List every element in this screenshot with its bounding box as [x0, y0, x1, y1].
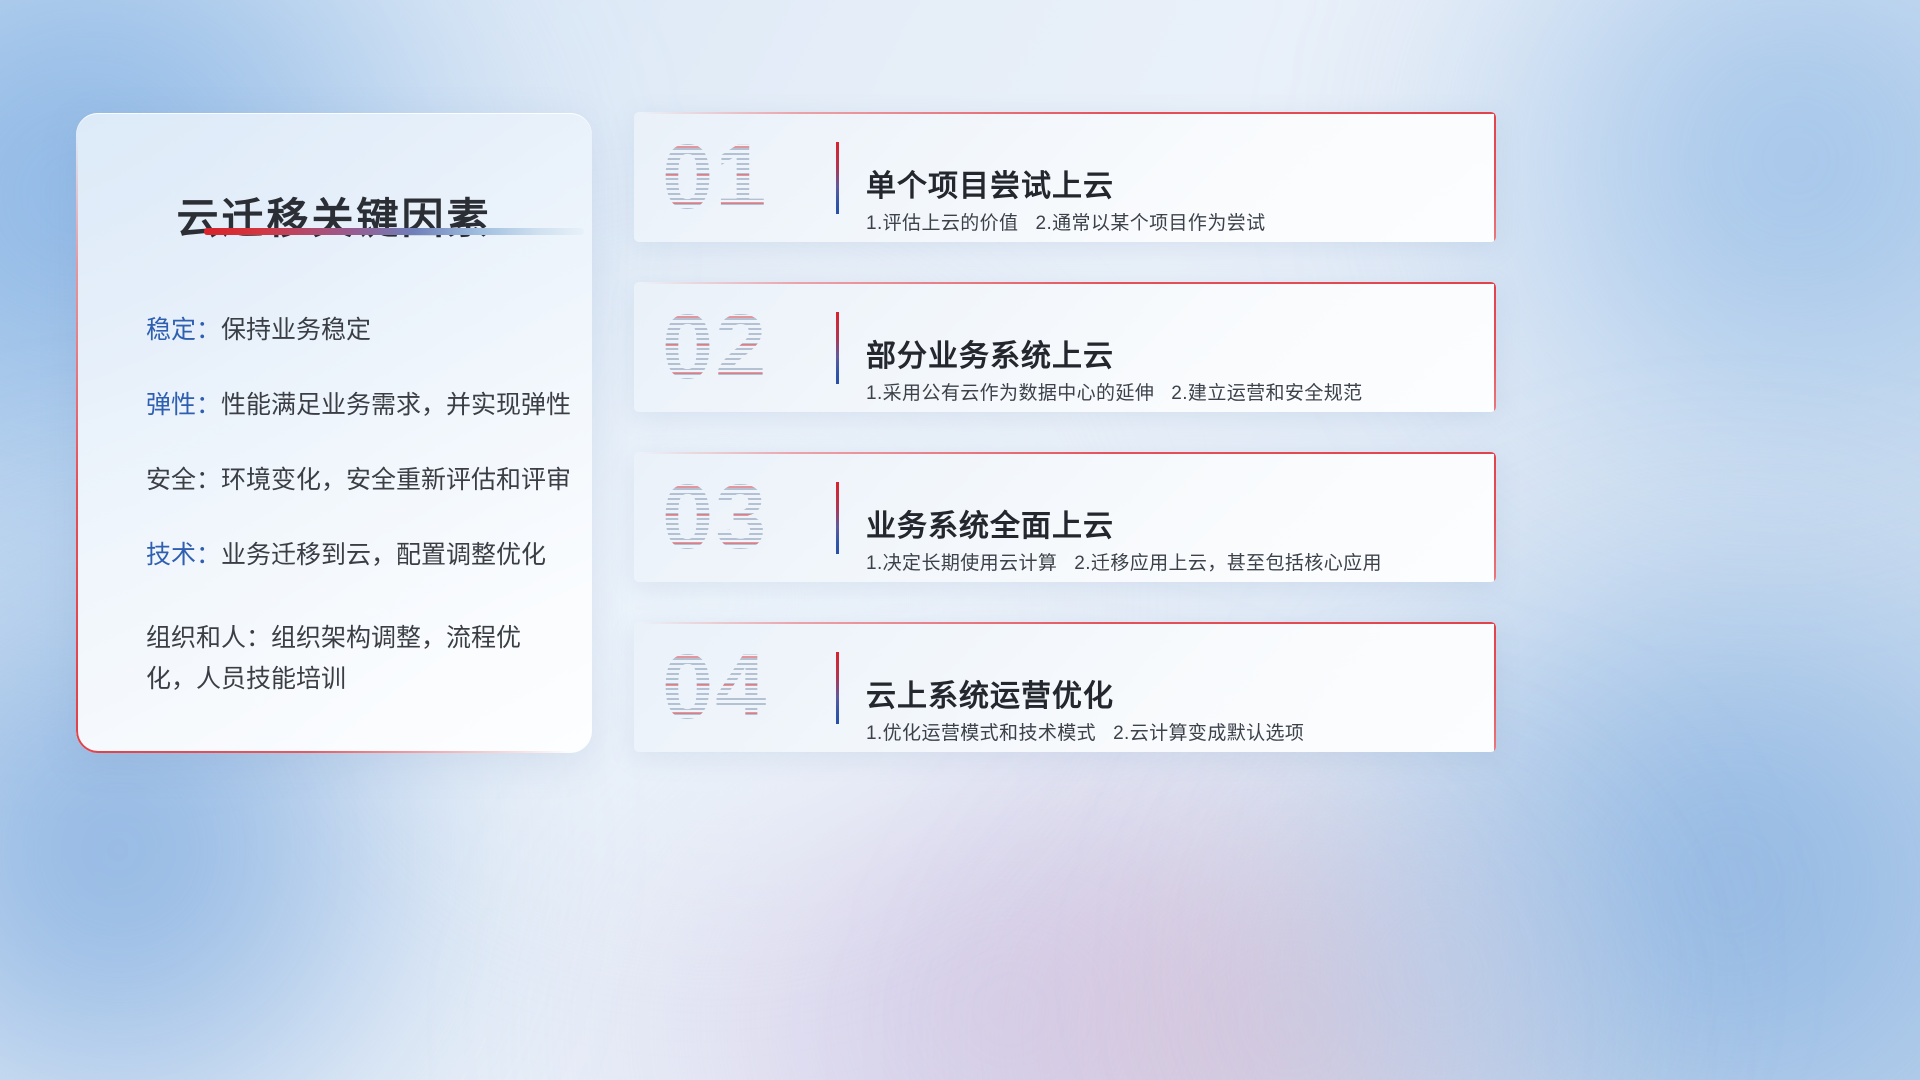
factor-text-technology: 业务迁移到云，配置调整优化 [221, 541, 546, 569]
step-card-01[interactable]: 01 01 单个项目尝试上云 1.评估上云的价值 2.通常以某个项目作为尝试 [634, 112, 1496, 242]
factor-label-security: 安全： [146, 466, 221, 494]
migration-steps-list: 01 01 单个项目尝试上云 1.评估上云的价值 2.通常以某个项目作为尝试 0… [634, 112, 1496, 752]
step-title-02: 部分业务系统上云 [866, 331, 1114, 375]
card-accent-bar [836, 482, 839, 554]
factor-text-security: 环境变化，安全重新评估和评审 [221, 466, 571, 494]
step-number-01: 01 [662, 118, 830, 236]
title-underline-gradient [204, 228, 584, 235]
step-title-03: 业务系统全面上云 [866, 501, 1114, 545]
step-title-04: 云上系统运营优化 [866, 671, 1114, 715]
step-number-03: 03 [662, 458, 830, 576]
card-accent-bar [836, 142, 839, 214]
step-subtitle-04: 1.优化运营模式和技术模式 2.云计算变成默认选项 [866, 718, 1304, 745]
factor-list: 稳定：保持业务稳定 弹性：性能满足业务需求，并实现弹性 安全：环境变化，安全重新… [146, 318, 558, 699]
step-card-02[interactable]: 02 02 部分业务系统上云 1.采用公有云作为数据中心的延伸 2.建立运营和安… [634, 282, 1496, 412]
factor-text-elasticity: 性能满足业务需求，并实现弹性 [221, 391, 571, 419]
key-factors-panel: 云迁移关键因素 稳定：保持业务稳定 弹性：性能满足业务需求，并实现弹性 安全：环… [76, 113, 592, 753]
factor-row-organization-people: 组织和人：组织架构调整，流程优化，人员技能培训 [146, 618, 558, 699]
factor-text-stability: 保持业务稳定 [221, 316, 371, 344]
panel-bottom-accent-border [92, 751, 572, 753]
card-right-accent-border [1494, 282, 1496, 412]
step-subtitle-02: 1.采用公有云作为数据中心的延伸 2.建立运营和安全规范 [866, 378, 1363, 405]
step-title-01: 单个项目尝试上云 [866, 161, 1114, 205]
card-accent-bar [836, 312, 839, 384]
card-top-accent-border [642, 452, 1496, 454]
factor-row-technology: 技术：业务迁移到云，配置调整优化 [146, 543, 558, 568]
step-card-03[interactable]: 03 03 业务系统全面上云 1.决定长期使用云计算 2.迁移应用上云，甚至包括… [634, 452, 1496, 582]
factor-label-stability: 稳定： [146, 316, 221, 344]
step-number-02: 02 [662, 288, 830, 406]
page-title: 云迁移关键因素 [76, 185, 592, 246]
factor-row-security: 安全：环境变化，安全重新评估和评审 [146, 468, 558, 493]
factor-label-organization-people: 组织和人： [146, 624, 271, 652]
card-right-accent-border [1494, 622, 1496, 752]
factor-row-stability: 稳定：保持业务稳定 [146, 318, 558, 343]
step-subtitle-01: 1.评估上云的价值 2.通常以某个项目作为尝试 [866, 208, 1266, 235]
factor-label-technology: 技术： [146, 541, 221, 569]
card-top-accent-border [642, 282, 1496, 284]
card-right-accent-border [1494, 112, 1496, 242]
step-card-04[interactable]: 04 04 云上系统运营优化 1.优化运营模式和技术模式 2.云计算变成默认选项 [634, 622, 1496, 752]
step-number-04: 04 [662, 628, 830, 746]
card-top-accent-border [642, 112, 1496, 114]
factor-row-elasticity: 弹性：性能满足业务需求，并实现弹性 [146, 393, 558, 418]
factor-label-elasticity: 弹性： [146, 391, 221, 419]
card-right-accent-border [1494, 452, 1496, 582]
card-accent-bar [836, 652, 839, 724]
step-subtitle-03: 1.决定长期使用云计算 2.迁移应用上云，甚至包括核心应用 [866, 548, 1382, 575]
card-top-accent-border [642, 622, 1496, 624]
